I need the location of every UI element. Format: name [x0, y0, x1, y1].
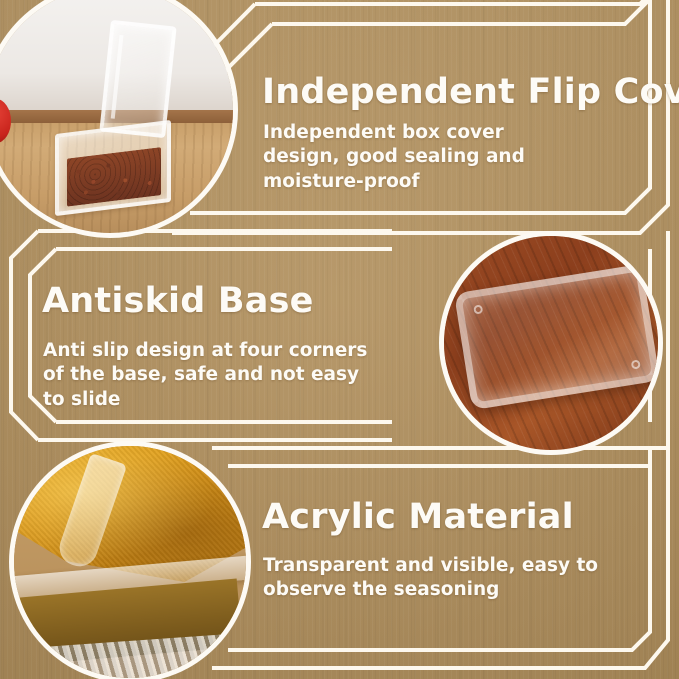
feature-photo-antiskid-base: [444, 236, 658, 450]
feature-headline-acrylic-material: Acrylic Material: [262, 497, 574, 537]
feature-photo-flip-cover: [0, 0, 233, 233]
feature-headline-independent-flip-cover: Independent Flip Cover: [262, 72, 679, 112]
product-feature-poster: Independent Flip Cover Independent box c…: [0, 0, 679, 679]
photo1-acrylic-box: [55, 120, 171, 216]
feature-description-independent-flip-cover: Independent box cover design, good seali…: [263, 121, 573, 194]
feature-photo-acrylic-material: [14, 446, 246, 678]
feature-headline-antiskid-base: Antiskid Base: [42, 281, 314, 321]
feature-description-acrylic-material: Transparent and visible, easy to observe…: [263, 554, 613, 603]
photo1-peppercorns: [67, 147, 161, 207]
feature-description-antiskid-base: Anti slip design at four corners of the …: [43, 339, 383, 412]
